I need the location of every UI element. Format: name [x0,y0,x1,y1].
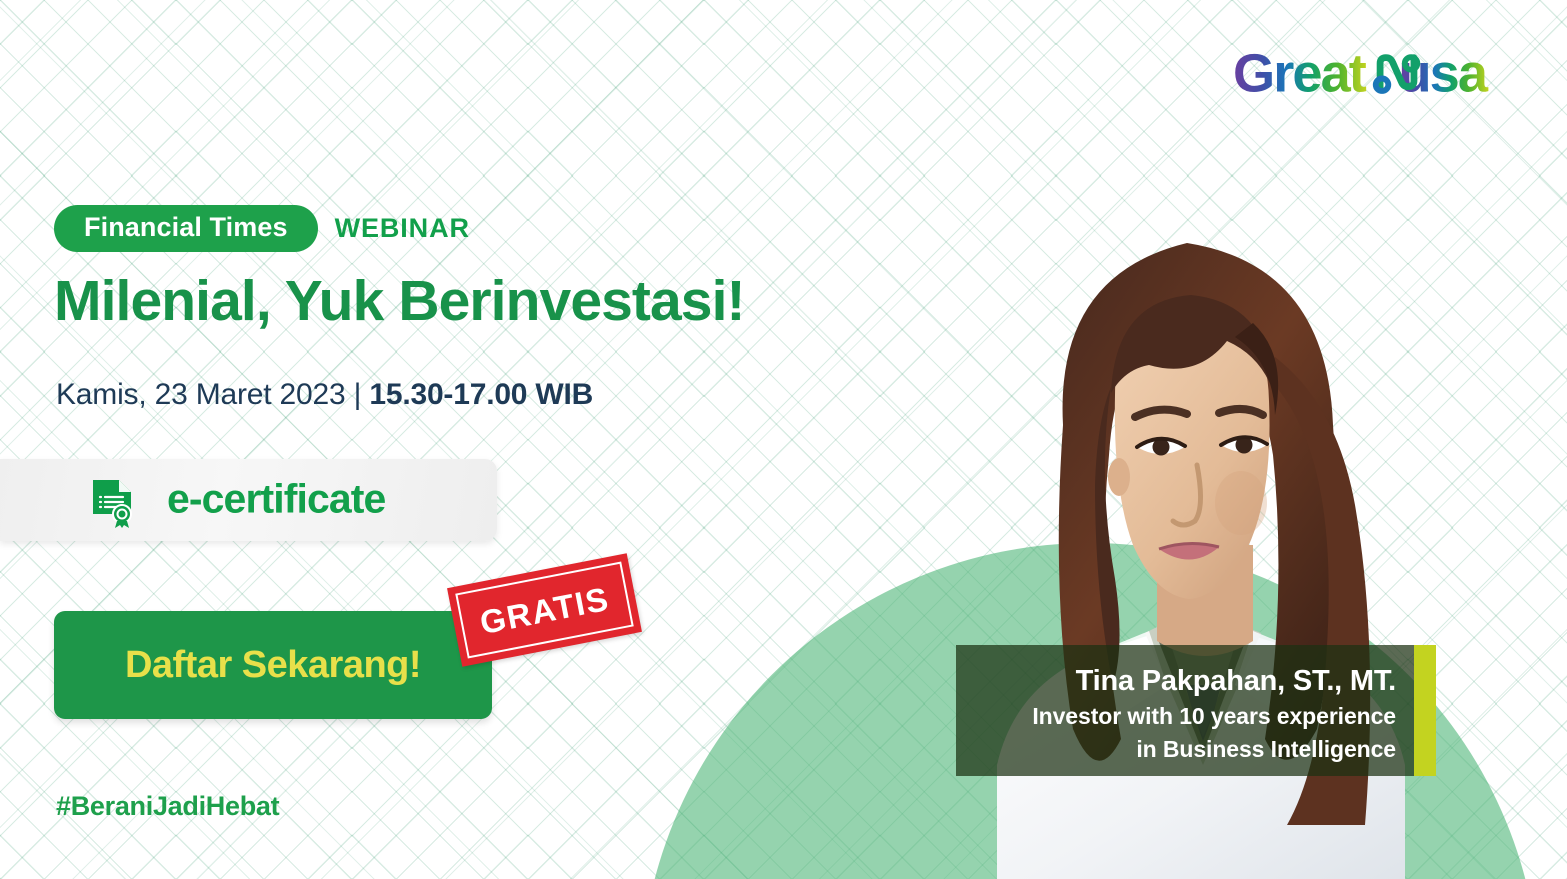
speaker-name: Tina Pakpahan, ST., MT. [976,663,1396,699]
certificate-badge: e-certificate [0,459,497,541]
register-button[interactable]: Daftar Sekarang! [54,611,492,719]
name-plate-accent-bar [1414,645,1436,776]
event-datetime: Kamis, 23 Maret 2023 | 15.30-17.00 WIB [56,377,593,413]
name-plate-text: Tina Pakpahan, ST., MT. Investor with 10… [976,663,1396,764]
ribbon-banner: GRATIS [447,553,642,666]
event-date: Kamis, 23 Maret 2023 | [56,378,369,411]
register-button-label: Daftar Sekarang! [125,646,421,684]
left-content-column: Financial Times WEBINAR Milenial, Yuk Be… [0,0,700,879]
webinar-promo-banner: Great usa Financial Times WEBINAR Mileni… [0,0,1567,879]
speaker-name-plate: Tina Pakpahan, ST., MT. Investor with 10… [956,645,1436,776]
campaign-hashtag: #BeraniJadiHebat [56,793,279,820]
speaker-role-line-1: Investor with 10 years experience [976,702,1396,731]
event-time: 15.30-17.00 WIB [369,378,593,411]
event-tag-row: Financial Times WEBINAR [54,205,470,252]
greatnusa-logo: Great usa [1233,46,1523,106]
category-pill: Financial Times [54,205,318,252]
page-title: Milenial, Yuk Berinvestasi! [54,272,745,332]
event-type-label: WEBINAR [335,215,470,242]
ribbon-label: GRATIS [447,553,642,666]
gratis-ribbon: GRATIS [444,566,644,691]
certificate-document-icon [89,478,137,528]
speaker-role-line-2: in Business Intelligence [976,735,1396,764]
certificate-label: e-certificate [167,479,385,520]
svg-text:Great: Great [1233,46,1367,103]
